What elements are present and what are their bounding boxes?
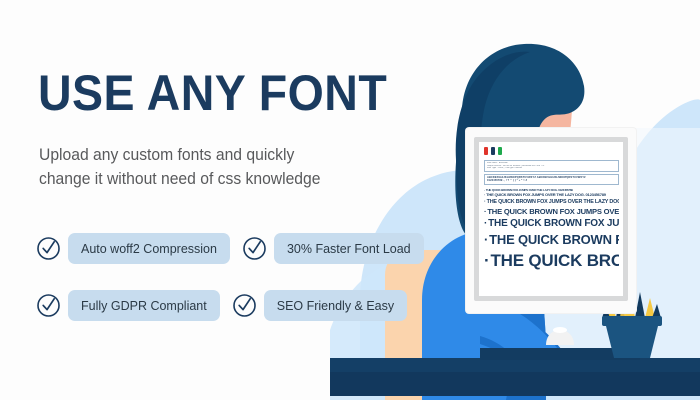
computer-monitor: Font name : Bitstream Unique version : 0… [466, 128, 636, 313]
check-circle-icon [232, 293, 257, 318]
feature-badge-label: 30% Faster Font Load [274, 233, 424, 264]
feature-badge[interactable]: Auto woff2 Compression [36, 233, 230, 264]
feature-badge-row: Fully GDPR Compliant SEO Friendly & Easy [36, 290, 356, 321]
pangram-preview-list: THE QUICK BROWN FOX JUMPS OVER THE LAZY … [484, 188, 619, 274]
window-close-dot[interactable] [484, 147, 488, 155]
window-minimize-dot[interactable] [491, 147, 495, 155]
feature-badge[interactable]: Fully GDPR Compliant [36, 290, 220, 321]
feature-badge[interactable]: 30% Faster Font Load [242, 233, 424, 264]
feature-badge[interactable]: SEO Friendly & Easy [232, 290, 407, 321]
pangram-line: THE QUICK BROWN FOX JUMPS OVER THE LAZY … [484, 249, 619, 273]
check-circle-icon [36, 293, 61, 318]
feature-badge-label: Fully GDPR Compliant [68, 290, 220, 321]
feature-badge-label: Auto woff2 Compression [68, 233, 230, 264]
pangram-line: THE QUICK BROWN FOX JUMPS OVER THE LAZY … [484, 217, 619, 231]
monitor-bezel: Font name : Bitstream Unique version : 0… [474, 137, 628, 301]
window-controls[interactable] [484, 147, 619, 155]
pangram-line: THE QUICK BROWN FOX JUMPS OVER THE LAZY … [484, 206, 619, 217]
check-circle-icon [36, 236, 61, 261]
pangram-line: THE QUICK BROWN FOX JUMPS OVER THE LAZY … [484, 198, 619, 206]
page-title: USE ANY FONT [38, 68, 387, 118]
feature-badge-row: Auto woff2 Compression 30% Faster Font L… [36, 233, 356, 264]
pangram-line: THE QUICK BROWN FOX JUMPS OVER THE LAZY … [484, 231, 619, 249]
alphabet-numerals-line: 0123456789 ., ! ? ' ' ( ) " + * ^ # [487, 179, 616, 182]
hero-text-panel: USE ANY FONT Upload any custom fonts and… [0, 0, 370, 400]
font-metadata-box: Font name : Bitstream Unique version : 0… [484, 160, 619, 172]
font-preview-screen: Font name : Bitstream Unique version : 0… [479, 142, 623, 296]
font-meta-line: Font Type : Local | TrueType Outlines [487, 167, 616, 170]
check-circle-icon [242, 236, 267, 261]
page-subtitle: Upload any custom fonts and quickly chan… [39, 143, 334, 191]
hero-banner: Font name : Bitstream Unique version : 0… [0, 0, 700, 400]
font-alphabet-box: ABCDEFGHIJKLMNOPQRSTUVWXYZ ABCDEFGHIJKLM… [484, 174, 619, 185]
feature-badge-grid: Auto woff2 Compression 30% Faster Font L… [36, 233, 356, 347]
window-maximize-dot[interactable] [498, 147, 502, 155]
feature-badge-label: SEO Friendly & Easy [264, 290, 407, 321]
